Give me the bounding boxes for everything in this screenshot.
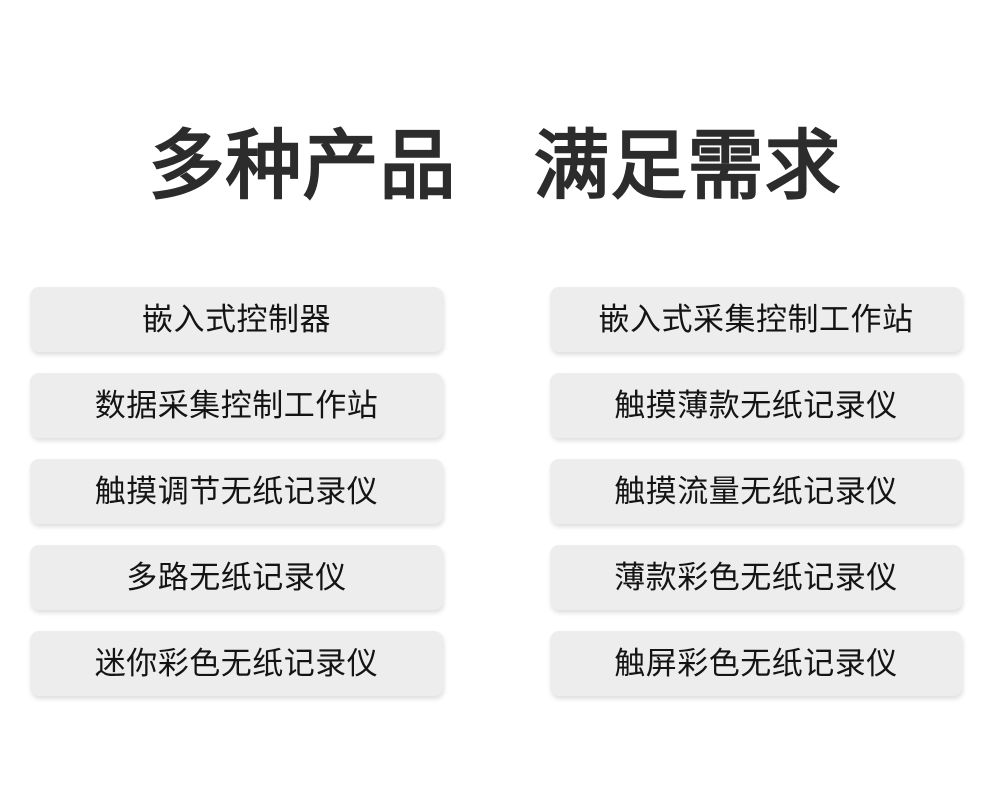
product-card[interactable]: 数据采集控制工作站 [30,373,443,438]
product-card-label: 嵌入式采集控制工作站 [599,301,914,339]
product-card-label: 触摸薄款无纸记录仪 [614,387,898,425]
product-overview-page: 多种产品 满足需求 嵌入式控制器 数据采集控制工作站 触摸调节无纸记录仪 多路无… [0,0,990,793]
product-card[interactable]: 迷你彩色无纸记录仪 [30,631,443,696]
page-title-container: 多种产品 满足需求 [0,118,990,214]
product-card-label: 数据采集控制工作站 [95,387,379,425]
product-card[interactable]: 薄款彩色无纸记录仪 [550,545,962,610]
page-title: 多种产品 满足需求 [149,118,842,214]
product-card[interactable]: 触屏彩色无纸记录仪 [550,631,962,696]
product-column-right: 嵌入式采集控制工作站 触摸薄款无纸记录仪 触摸流量无纸记录仪 薄款彩色无纸记录仪… [550,287,962,696]
product-card-label: 触摸流量无纸记录仪 [614,473,898,511]
product-card-label: 多路无纸记录仪 [126,559,347,597]
product-column-left: 嵌入式控制器 数据采集控制工作站 触摸调节无纸记录仪 多路无纸记录仪 迷你彩色无… [30,287,443,696]
product-card[interactable]: 嵌入式采集控制工作站 [550,287,962,352]
product-card[interactable]: 多路无纸记录仪 [30,545,443,610]
product-card-label: 嵌入式控制器 [142,301,331,339]
product-card-label: 薄款彩色无纸记录仪 [614,559,898,597]
product-card-label: 触屏彩色无纸记录仪 [614,645,898,683]
product-card[interactable]: 触摸调节无纸记录仪 [30,459,443,524]
product-columns: 嵌入式控制器 数据采集控制工作站 触摸调节无纸记录仪 多路无纸记录仪 迷你彩色无… [30,287,962,696]
product-card[interactable]: 触摸薄款无纸记录仪 [550,373,962,438]
product-card[interactable]: 触摸流量无纸记录仪 [550,459,962,524]
product-card-label: 迷你彩色无纸记录仪 [95,645,379,683]
product-card-label: 触摸调节无纸记录仪 [95,473,379,511]
product-card[interactable]: 嵌入式控制器 [30,287,443,352]
